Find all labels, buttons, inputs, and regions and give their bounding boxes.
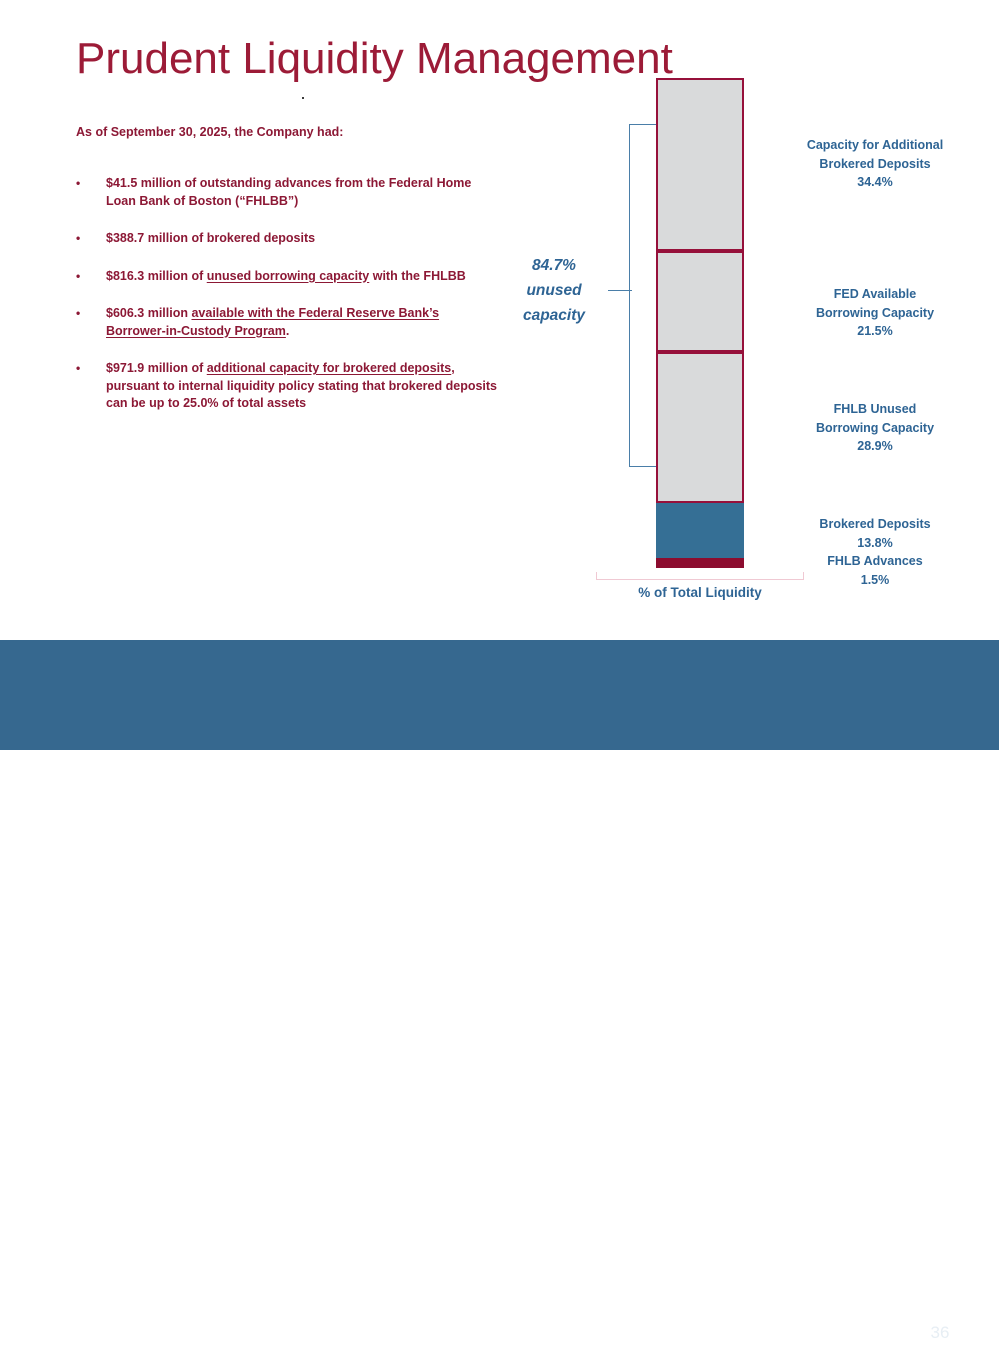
annotation-line-1: 84.7% bbox=[505, 253, 603, 278]
callout-fhlb-advances: FHLB Advances 1.5% bbox=[760, 552, 990, 589]
bar-segment-fed-available-borrowing bbox=[656, 251, 744, 352]
bar-segment-brokered-deposits bbox=[656, 503, 744, 558]
annotation-line-2: unused bbox=[505, 278, 603, 303]
callout-value: 1.5% bbox=[760, 571, 990, 590]
callout-value: 21.5% bbox=[760, 322, 990, 341]
callout-value: 34.4% bbox=[760, 173, 990, 192]
callout-line-1: FHLB Unused bbox=[760, 400, 990, 419]
unused-capacity-bracket bbox=[629, 124, 657, 467]
company-logo: NB Bancorp, Inc. bbox=[48, 1312, 275, 1352]
logo-mark-text: NB bbox=[54, 1318, 88, 1346]
footer-band: NB Bancorp, Inc. 36 bbox=[0, 640, 999, 750]
bar-segment-fhlb-unused-borrowing bbox=[656, 352, 744, 503]
callout-line-1: FHLB Advances bbox=[760, 552, 990, 571]
bar-segment-capacity-additional-brokered bbox=[656, 78, 744, 251]
slide-canvas: Prudent Liquidity Management As of Septe… bbox=[0, 0, 999, 750]
callout-fed-available-borrowing: FED Available Borrowing Capacity 21.5% bbox=[760, 285, 990, 341]
callout-line-2: Brokered Deposits bbox=[760, 155, 990, 174]
callout-brokered-deposits: Brokered Deposits 13.8% bbox=[760, 515, 990, 552]
logo-mark-box: NB bbox=[48, 1312, 94, 1352]
bar-segment-fhlb-advances bbox=[656, 558, 744, 568]
callout-value: 28.9% bbox=[760, 437, 990, 456]
annotation-line-3: capacity bbox=[505, 303, 603, 328]
callout-capacity-additional-brokered: Capacity for Additional Brokered Deposit… bbox=[760, 136, 990, 192]
logo-wordmark: Bancorp, Inc. bbox=[99, 1314, 275, 1350]
liquidity-stacked-bar-chart: 84.7% unused capacity % of Total Liquidi… bbox=[0, 0, 999, 640]
callout-line-1: Brokered Deposits bbox=[760, 515, 990, 534]
callout-fhlb-unused-borrowing: FHLB Unused Borrowing Capacity 28.9% bbox=[760, 400, 990, 456]
unused-capacity-annotation: 84.7% unused capacity bbox=[505, 253, 603, 328]
page-number: 36 bbox=[920, 1323, 960, 1343]
callout-line-2: Borrowing Capacity bbox=[760, 419, 990, 438]
callout-value: 13.8% bbox=[760, 534, 990, 553]
callout-line-1: FED Available bbox=[760, 285, 990, 304]
callout-line-2: Borrowing Capacity bbox=[760, 304, 990, 323]
callout-line-1: Capacity for Additional bbox=[760, 136, 990, 155]
